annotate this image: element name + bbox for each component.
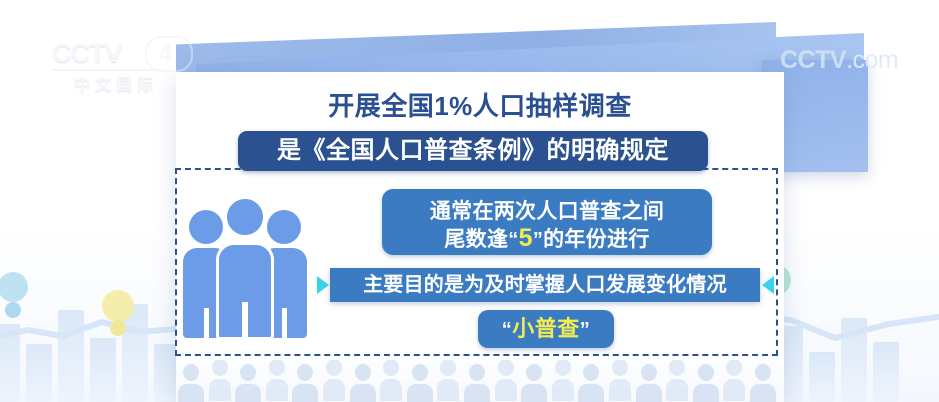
crowd-person-icon [407, 364, 433, 402]
crowd-person-icon [464, 364, 490, 402]
info-block-primary: 通常在两次人口普查之间 尾数逢“5”的年份进行 [382, 189, 712, 255]
info-block-line2: 尾数逢“5”的年份进行 [382, 223, 712, 253]
line2-prefix: 尾数逢 [444, 228, 508, 251]
channel-watermark: CCTV 4 中文国际 [52, 38, 192, 90]
crowd-person-icon [323, 360, 345, 399]
crowd-person-icon [552, 360, 574, 399]
crowd-person-icon [292, 364, 318, 402]
crowd-person-icon [578, 364, 604, 402]
channel-watermark-number: 4 [159, 40, 172, 67]
crowd-person-icon [380, 360, 402, 399]
crowd-person-icon [178, 364, 204, 402]
crowd-person-icon [636, 364, 662, 402]
info-block-line1: 通常在两次人口普查之间 [382, 195, 712, 225]
crowd-person-icon [209, 360, 231, 399]
broadcast-frame: 开展全国1%人口抽样调查 是《全国人口普查条例》的明确规定 通常在两次人口普查之… [0, 0, 939, 402]
crowd-person-icon [235, 364, 261, 402]
crowd-person-icon [693, 364, 719, 402]
line2-quote-close: ” [533, 229, 543, 251]
page-title: 开展全国1%人口抽样调查 [176, 86, 784, 123]
site-watermark: CCTV.com [780, 46, 898, 75]
crowd-person-icon [495, 360, 517, 399]
three-people-icon [183, 188, 313, 340]
channel-watermark-subtitle: 中文国际 [74, 71, 158, 95]
chart-pin-blue [0, 272, 28, 302]
line2-suffix: 的年份进行 [543, 228, 650, 251]
line2-highlight-number: 5 [519, 224, 533, 252]
crowd-person-icon [666, 360, 688, 399]
site-watermark-domain: .com [846, 46, 898, 74]
crowd-people-icon [178, 360, 782, 402]
crowd-person-icon [521, 364, 547, 402]
nickname-quote-close: ” [580, 319, 591, 341]
arrow-right-marker-icon [317, 276, 329, 294]
nickname-text: 小普查 [512, 316, 580, 341]
person-icon-center [216, 196, 274, 340]
chart-pin-yellow [102, 290, 134, 322]
info-block-purpose: 主要目的是为及时掌握人口发展变化情况 [330, 268, 760, 302]
crowd-person-icon [350, 364, 376, 402]
crowd-person-icon [437, 360, 459, 399]
nickname-quote-open: “ [502, 319, 513, 341]
subtitle-pill: 是《全国人口普查条例》的明确规定 [238, 131, 708, 171]
crowd-person-icon [723, 360, 745, 399]
background-trendline-left [0, 302, 190, 362]
background-chart-left [0, 252, 190, 402]
arrow-left-marker-icon [762, 276, 774, 294]
site-watermark-brand: CCTV [780, 46, 846, 74]
crowd-person-icon [609, 360, 631, 399]
crowd-person-icon [750, 364, 776, 402]
crowd-person-icon [266, 360, 288, 399]
info-block-nickname: “小普查” [478, 310, 614, 348]
line2-quote-open: “ [508, 229, 518, 251]
